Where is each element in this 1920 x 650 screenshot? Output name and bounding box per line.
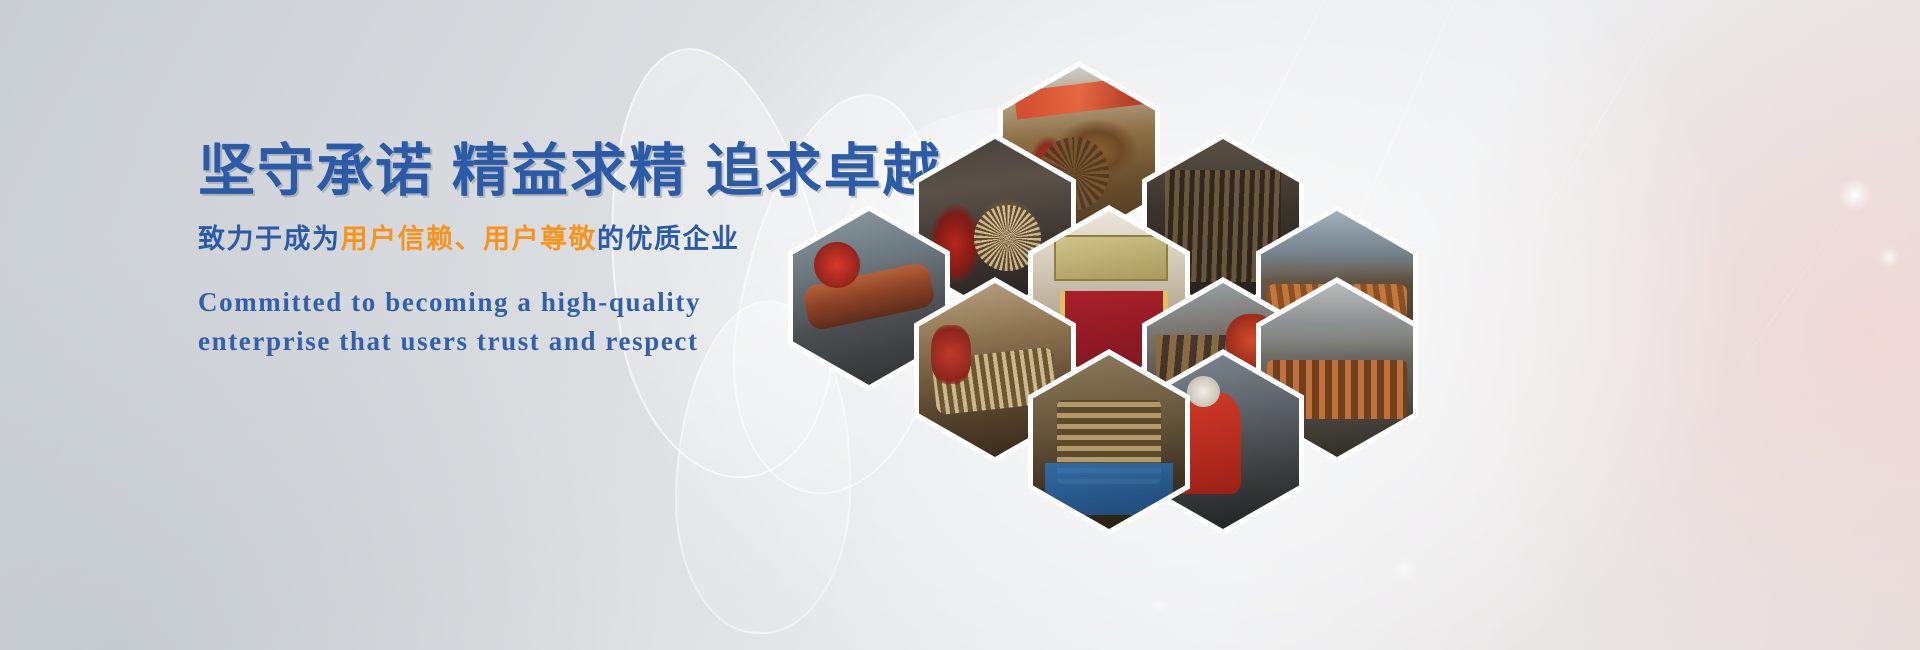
subtitle-separator: 、 xyxy=(455,224,484,254)
hex-photo-frame xyxy=(1033,355,1185,529)
subtitle-lead: 致力于成为 xyxy=(198,224,341,254)
light-streak xyxy=(1701,175,1870,424)
lens-glow xyxy=(1150,596,1168,614)
lens-glow xyxy=(1838,178,1872,212)
subtitle-highlight-respect: 用户尊敬 xyxy=(483,224,597,254)
subtitle-tail: 的优质企业 xyxy=(597,224,740,254)
subtitle-highlight-trust: 用户信赖 xyxy=(341,224,455,254)
lens-glow xyxy=(1392,556,1418,582)
hex-photo-image xyxy=(1033,355,1185,529)
hexagon-photo-collage xyxy=(770,45,1430,515)
light-streak xyxy=(1507,0,1693,275)
promo-banner: 坚守承诺 精益求精 追求卓越 致力于成为用户信赖、用户尊敬的优质企业 Commi… xyxy=(0,0,1920,650)
lens-glow xyxy=(1878,246,1900,268)
